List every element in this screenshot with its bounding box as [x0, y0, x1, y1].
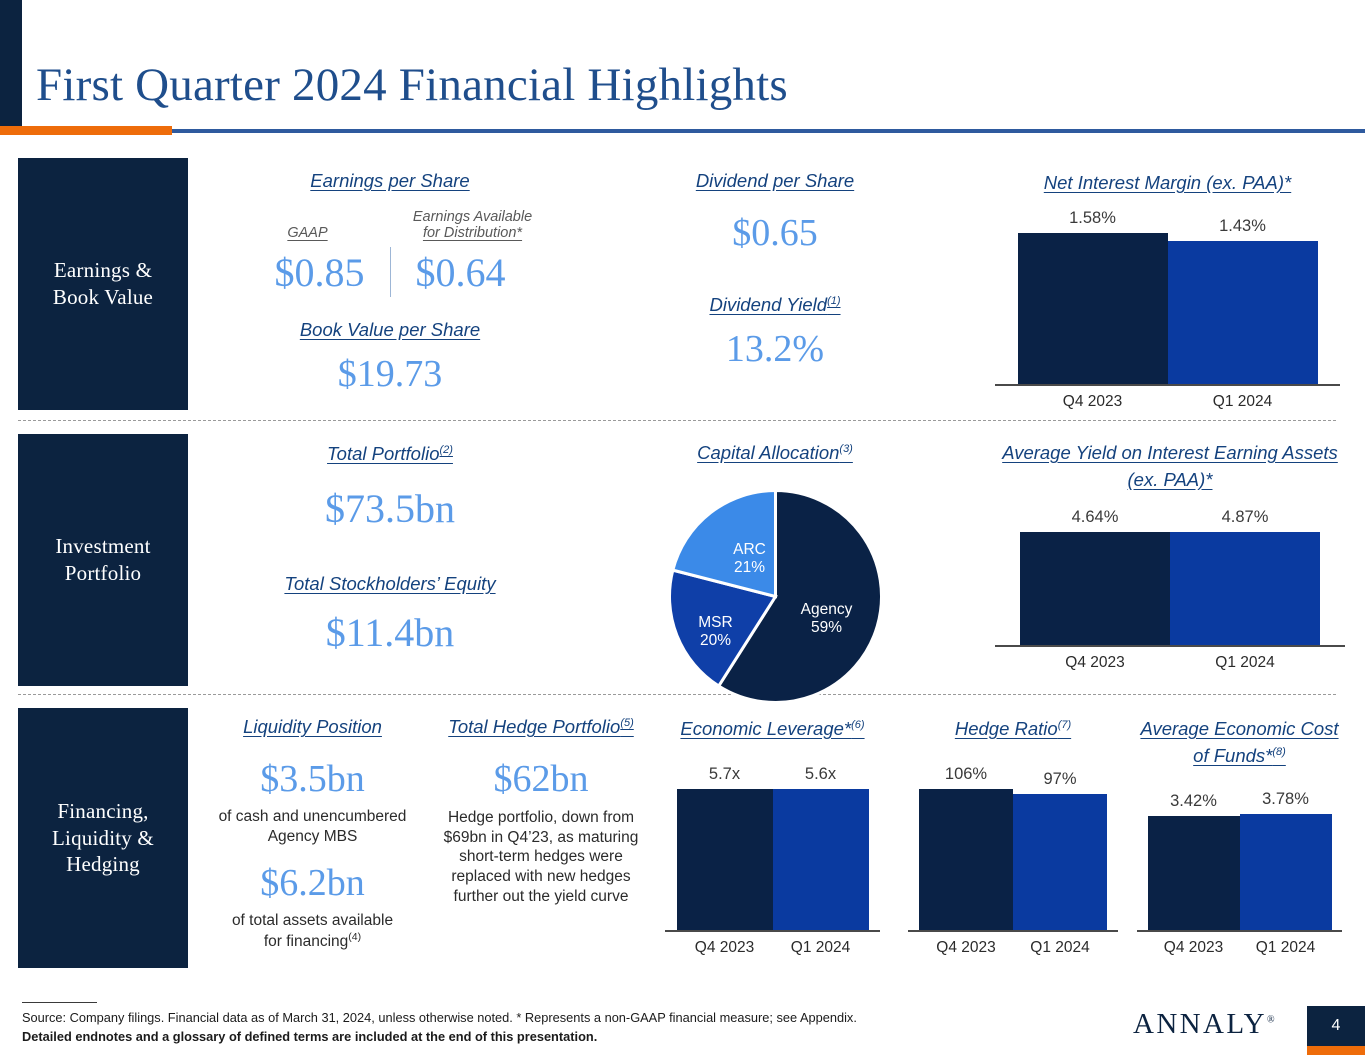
- eps-title: Earnings per Share: [205, 170, 575, 192]
- pie-label-arc: ARC 21%: [710, 541, 790, 578]
- chart-axis: [665, 930, 880, 932]
- bar-value-label: 3.42%: [1170, 792, 1217, 811]
- total-stockholders-equity-title: Total Stockholders’ Equity: [205, 573, 575, 595]
- total-hedge-portfolio-desc: Hedge portfolio, down from $69bn in Q4’2…: [432, 808, 650, 906]
- chart-title: Hedge Ratio(7): [908, 716, 1118, 743]
- total-hedge-portfolio-footnote: (5): [620, 717, 633, 729]
- liquidity-value-2: $6.2bn: [205, 864, 420, 902]
- pie-label-name: ARC: [710, 541, 790, 559]
- book-value-per-share-title: Book Value per Share: [205, 319, 575, 341]
- eps-subheaders: GAAP Earnings Available for Distribution…: [205, 209, 575, 241]
- chart-title-text: Hedge Ratio: [955, 718, 1058, 739]
- page-number-orange-accent: [1307, 1046, 1365, 1055]
- pie-label-name: Agency: [786, 601, 868, 619]
- bar-group: 3.78%: [1240, 790, 1332, 930]
- chart-hedge-ratio: Hedge Ratio(7) 106% 97% Q4 2023 Q1 2024: [908, 716, 1118, 957]
- bar-group: 4.64%: [1020, 508, 1170, 645]
- chart-title-footnote: (8): [1272, 746, 1285, 758]
- x-tick-label: Q1 2024: [1013, 939, 1107, 957]
- page-number: 4: [1332, 1017, 1341, 1035]
- chart-average-yield: Average Yield on Interest Earning Assets…: [995, 440, 1345, 672]
- chart-x-labels: Q4 2023 Q1 2024: [995, 654, 1345, 672]
- pie-label-value: 21%: [710, 559, 790, 577]
- dividend-per-share-value: $0.65: [640, 214, 910, 252]
- bar-value-label: 4.87%: [1222, 508, 1269, 527]
- total-portfolio-footnote: (2): [439, 444, 452, 456]
- chart-title: Net Interest Margin (ex. PAA)*: [995, 170, 1340, 197]
- pie-chart: ARC 21% MSR 20% Agency 59%: [668, 489, 883, 704]
- page-number-box: 4: [1307, 1006, 1365, 1046]
- bar-group: 3.42%: [1148, 790, 1240, 930]
- chart-x-labels: Q4 2023 Q1 2024: [995, 393, 1340, 411]
- bar-value-label: 5.6x: [805, 765, 836, 784]
- chart-axis: [908, 930, 1118, 932]
- total-stockholders-equity-value: $11.4bn: [205, 613, 575, 653]
- annaly-logo: ANNALY®: [1133, 1008, 1277, 1041]
- book-value-per-share-value: $19.73: [205, 355, 575, 393]
- chart-title: Average Economic Cost of Funds*(8): [1137, 716, 1342, 770]
- eps-ead-label-line1: Earnings Available: [410, 209, 535, 225]
- chart-title: Economic Leverage*(6): [665, 716, 880, 743]
- header-blue-rule: [172, 129, 1365, 133]
- bar-value-label: 3.78%: [1262, 790, 1309, 809]
- bar-value-label: 106%: [945, 765, 987, 784]
- total-portfolio-value: $73.5bn: [205, 489, 575, 529]
- chart-title-footnote: (6): [851, 719, 864, 731]
- liquidity-desc-2-line2: for financing: [264, 933, 348, 950]
- total-portfolio-title-text: Total Portfolio: [327, 443, 439, 464]
- x-tick-label: Q4 2023: [1020, 654, 1170, 672]
- bar-value-label: 1.58%: [1069, 209, 1116, 228]
- bar: [1148, 816, 1240, 930]
- chart-title: Average Yield on Interest Earning Assets…: [995, 440, 1345, 494]
- bar-value-label: 4.64%: [1072, 508, 1119, 527]
- bar-group: 5.7x: [677, 765, 773, 930]
- eps-values: $0.85 $0.64: [205, 247, 575, 297]
- category-box-earnings-book-value: Earnings & Book Value: [18, 158, 188, 410]
- bar: [773, 789, 869, 930]
- x-tick-label: Q4 2023: [1148, 939, 1240, 957]
- x-tick-label: Q1 2024: [1168, 393, 1318, 411]
- eps-ead-label-line2: for Distribution*: [410, 225, 535, 241]
- dividend-per-share-title: Dividend per Share: [640, 170, 910, 192]
- category-label: Investment Portfolio: [55, 533, 150, 587]
- category-label: Financing, Liquidity & Hedging: [52, 798, 154, 879]
- x-tick-label: Q1 2024: [773, 939, 869, 957]
- total-hedge-portfolio-block: Total Hedge Portfolio(5) $62bn Hedge por…: [432, 716, 650, 906]
- liquidity-desc-2-footnote: (4): [348, 931, 361, 943]
- chart-net-interest-margin: Net Interest Margin (ex. PAA)* 1.58% 1.4…: [995, 170, 1340, 411]
- pie-label-value: 59%: [786, 619, 868, 637]
- bar: [1013, 794, 1107, 930]
- pie-svg: [668, 489, 883, 704]
- registered-trademark-icon: ®: [1267, 1014, 1277, 1025]
- bar-group: 97%: [1013, 765, 1107, 930]
- x-tick-label: Q1 2024: [1170, 654, 1320, 672]
- row-divider-1: [18, 420, 1336, 421]
- pie-label-agency: Agency 59%: [786, 601, 868, 638]
- bar-value-label: 97%: [1043, 770, 1076, 789]
- chart-title-text: Average Yield on Interest Earning Assets…: [1002, 442, 1338, 490]
- investment-portfolio-block: Total Portfolio(2) $73.5bn Total Stockho…: [205, 443, 575, 653]
- total-hedge-portfolio-value: $62bn: [432, 760, 650, 798]
- x-tick-label: Q1 2024: [1240, 939, 1332, 957]
- bar-group: 1.43%: [1168, 209, 1318, 384]
- header-left-accent-bar: [0, 0, 22, 128]
- bar-value-label: 5.7x: [709, 765, 740, 784]
- bar: [1240, 814, 1332, 930]
- footer-rule: [22, 1002, 97, 1003]
- chart-plot-area: 1.58% 1.43%: [995, 209, 1340, 384]
- liquidity-desc-1: of cash and unencumbered Agency MBS: [205, 807, 420, 846]
- bar: [677, 789, 773, 930]
- bar: [919, 789, 1013, 930]
- bar: [1018, 233, 1168, 384]
- chart-axis: [995, 645, 1345, 647]
- bar: [1020, 532, 1170, 645]
- chart-title-text: Net Interest Margin (ex. PAA)*: [1044, 172, 1291, 193]
- bar-value-label: 1.43%: [1219, 217, 1266, 236]
- x-tick-label: Q4 2023: [919, 939, 1013, 957]
- dividend-yield-title-text: Dividend Yield: [709, 294, 827, 315]
- footer-text: Source: Company filings. Financial data …: [22, 1008, 1022, 1046]
- chart-title-text: Economic Leverage*: [680, 718, 851, 739]
- pie-label-name: MSR: [676, 614, 756, 632]
- annaly-logo-text: ANNALY: [1133, 1008, 1267, 1040]
- dividend-block: Dividend per Share $0.65 Dividend Yield(…: [640, 170, 910, 368]
- chart-title-text: Average Economic Cost of Funds*: [1140, 718, 1338, 766]
- liquidity-desc-2-line1: of total assets available: [232, 912, 393, 929]
- category-box-investment-portfolio: Investment Portfolio: [18, 434, 188, 686]
- chart-title-text: Capital Allocation: [697, 442, 839, 463]
- chart-x-labels: Q4 2023 Q1 2024: [665, 939, 880, 957]
- pie-label-msr: MSR 20%: [676, 614, 756, 651]
- bar: [1168, 241, 1318, 384]
- earnings-per-share-block: Earnings per Share GAAP Earnings Availab…: [205, 170, 575, 393]
- chart-title-footnote: (3): [839, 443, 852, 455]
- footer-line-2: Detailed endnotes and a glossary of defi…: [22, 1027, 1022, 1046]
- bar-group: 1.58%: [1018, 209, 1168, 384]
- bar-group: 4.87%: [1170, 508, 1320, 645]
- chart-x-labels: Q4 2023 Q1 2024: [908, 939, 1118, 957]
- dividend-yield-value: 13.2%: [640, 330, 910, 368]
- total-hedge-portfolio-title: Total Hedge Portfolio(5): [432, 716, 650, 738]
- x-tick-label: Q4 2023: [1018, 393, 1168, 411]
- chart-plot-area: 106% 97%: [908, 765, 1118, 930]
- category-box-financing-liquidity-hedging: Financing, Liquidity & Hedging: [18, 708, 188, 968]
- pie-label-value: 20%: [676, 632, 756, 650]
- chart-x-labels: Q4 2023 Q1 2024: [1137, 939, 1342, 957]
- slide: First Quarter 2024 Financial Highlights …: [0, 0, 1365, 1055]
- dividend-yield-footnote: (1): [827, 295, 840, 307]
- chart-title-footnote: (7): [1058, 719, 1071, 731]
- chart-economic-leverage: Economic Leverage*(6) 5.7x 5.6x Q4 2023 …: [665, 716, 880, 957]
- liquidity-desc-2: of total assets available for financing(…: [205, 911, 420, 952]
- chart-average-economic-cost-of-funds: Average Economic Cost of Funds*(8) 3.42%…: [1137, 716, 1342, 957]
- chart-capital-allocation: Capital Allocation(3) ARC 21% MSR 20% Ag…: [640, 440, 910, 704]
- total-portfolio-title: Total Portfolio(2): [205, 443, 575, 465]
- chart-title: Capital Allocation(3): [640, 440, 910, 467]
- total-hedge-portfolio-title-text: Total Hedge Portfolio: [448, 716, 620, 737]
- liquidity-position-title: Liquidity Position: [205, 716, 420, 738]
- header-orange-rule: [0, 126, 172, 135]
- liquidity-position-block: Liquidity Position $3.5bn of cash and un…: [205, 716, 420, 952]
- x-tick-label: Q4 2023: [677, 939, 773, 957]
- chart-axis: [995, 384, 1340, 386]
- liquidity-value-1: $3.5bn: [205, 760, 420, 798]
- chart-plot-area: 3.42% 3.78%: [1137, 790, 1342, 930]
- chart-plot-area: 4.64% 4.87%: [995, 508, 1345, 645]
- chart-plot-area: 5.7x 5.6x: [665, 765, 880, 930]
- eps-ead-value: $0.64: [391, 249, 531, 296]
- page-title: First Quarter 2024 Financial Highlights: [36, 58, 788, 112]
- bar-group: 5.6x: [773, 765, 869, 930]
- bar: [1170, 532, 1320, 645]
- dividend-yield-title: Dividend Yield(1): [640, 294, 910, 316]
- chart-axis: [1137, 930, 1342, 932]
- bar-group: 106%: [919, 765, 1013, 930]
- category-label: Earnings & Book Value: [53, 257, 153, 311]
- footer-line-1: Source: Company filings. Financial data …: [22, 1008, 1022, 1027]
- eps-gaap-label: GAAP: [245, 225, 370, 241]
- eps-gaap-value: $0.85: [250, 249, 390, 296]
